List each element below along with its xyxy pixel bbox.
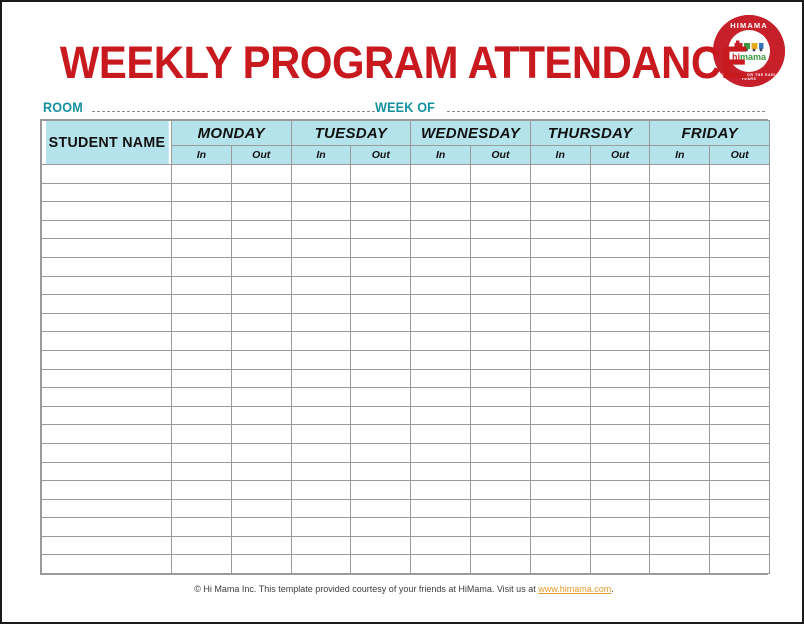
cell-time-entry[interactable]	[291, 499, 351, 518]
cell-time-entry[interactable]	[172, 425, 232, 444]
cell-time-entry[interactable]	[650, 295, 710, 314]
himama-website-link[interactable]: www.himama.com	[538, 584, 611, 594]
cell-time-entry[interactable]	[411, 332, 471, 351]
cell-time-entry[interactable]	[530, 518, 590, 537]
table-row[interactable]	[42, 443, 770, 462]
cell-time-entry[interactable]	[291, 388, 351, 407]
cell-time-entry[interactable]	[351, 499, 411, 518]
cell-time-entry[interactable]	[471, 555, 531, 574]
cell-student-name[interactable]	[42, 481, 172, 500]
cell-student-name[interactable]	[42, 462, 172, 481]
table-row[interactable]	[42, 350, 770, 369]
table-row[interactable]	[42, 499, 770, 518]
table-row[interactable]	[42, 555, 770, 574]
col-header-tuesday: TUESDAY	[291, 121, 411, 146]
cell-time-entry[interactable]	[351, 369, 411, 388]
cell-time-entry[interactable]	[710, 462, 770, 481]
cell-time-entry[interactable]	[411, 183, 471, 202]
room-label: ROOM	[43, 100, 86, 114]
col-header-tuesday-in: In	[291, 146, 351, 165]
cell-time-entry[interactable]	[291, 536, 351, 555]
footer-text-after: .	[611, 584, 614, 594]
cell-time-entry[interactable]	[530, 443, 590, 462]
col-header-wednesday-out: Out	[471, 146, 531, 165]
cell-time-entry[interactable]	[231, 332, 291, 351]
cell-time-entry[interactable]	[650, 183, 710, 202]
cell-time-entry[interactable]	[231, 462, 291, 481]
cell-time-entry[interactable]	[590, 369, 650, 388]
cell-time-entry[interactable]	[590, 313, 650, 332]
cell-time-entry[interactable]	[650, 239, 710, 258]
cell-time-entry[interactable]	[710, 555, 770, 574]
cell-time-entry[interactable]	[172, 388, 232, 407]
table-row[interactable]	[42, 220, 770, 239]
cell-time-entry[interactable]	[231, 239, 291, 258]
cell-time-entry[interactable]	[530, 350, 590, 369]
cell-time-entry[interactable]	[172, 369, 232, 388]
week-of-input-line[interactable]	[447, 111, 765, 112]
cell-time-entry[interactable]	[590, 555, 650, 574]
cell-time-entry[interactable]	[172, 276, 232, 295]
cell-time-entry[interactable]	[231, 220, 291, 239]
col-header-wednesday-in: In	[411, 146, 471, 165]
cell-time-entry[interactable]	[590, 425, 650, 444]
cell-time-entry[interactable]	[172, 295, 232, 314]
cell-time-entry[interactable]	[351, 555, 411, 574]
col-header-thursday: THURSDAY	[530, 121, 650, 146]
cell-time-entry[interactable]	[291, 555, 351, 574]
table-row[interactable]	[42, 536, 770, 555]
cell-time-entry[interactable]	[530, 536, 590, 555]
page-title: WEEKLY PROGRAM ATTENDANCE	[30, 39, 778, 87]
cell-time-entry[interactable]	[650, 350, 710, 369]
table-row[interactable]	[42, 165, 770, 184]
cell-time-entry[interactable]	[471, 183, 531, 202]
cell-time-entry[interactable]	[291, 257, 351, 276]
attendance-table: STUDENT NAME MONDAY TUESDAY WEDNESDAY TH…	[41, 120, 770, 574]
cell-time-entry[interactable]	[291, 276, 351, 295]
cell-time-entry[interactable]	[590, 257, 650, 276]
cell-time-entry[interactable]	[590, 350, 650, 369]
cell-time-entry[interactable]	[291, 425, 351, 444]
cell-time-entry[interactable]	[172, 202, 232, 221]
cell-time-entry[interactable]	[710, 388, 770, 407]
cell-time-entry[interactable]	[590, 388, 650, 407]
cell-time-entry[interactable]	[411, 220, 471, 239]
cell-time-entry[interactable]	[231, 350, 291, 369]
attendance-table-wrapper: STUDENT NAME MONDAY TUESDAY WEDNESDAY TH…	[40, 119, 768, 575]
cell-time-entry[interactable]	[471, 313, 531, 332]
cell-time-entry[interactable]	[172, 536, 232, 555]
cell-time-entry[interactable]	[590, 276, 650, 295]
cell-time-entry[interactable]	[351, 295, 411, 314]
cell-time-entry[interactable]	[590, 536, 650, 555]
cell-time-entry[interactable]	[411, 295, 471, 314]
cell-time-entry[interactable]	[231, 257, 291, 276]
room-field[interactable]: ROOM	[43, 100, 375, 114]
cell-time-entry[interactable]	[530, 369, 590, 388]
cell-time-entry[interactable]	[351, 518, 411, 537]
cell-time-entry[interactable]	[411, 499, 471, 518]
col-header-student-name: STUDENT NAME	[45, 121, 169, 165]
cell-student-name[interactable]	[42, 388, 172, 407]
cell-time-entry[interactable]	[650, 276, 710, 295]
cell-time-entry[interactable]	[530, 276, 590, 295]
cell-time-entry[interactable]	[650, 425, 710, 444]
cell-time-entry[interactable]	[172, 257, 232, 276]
cell-time-entry[interactable]	[351, 239, 411, 258]
cell-time-entry[interactable]	[471, 220, 531, 239]
table-row[interactable]	[42, 239, 770, 258]
cell-time-entry[interactable]	[530, 183, 590, 202]
cell-time-entry[interactable]	[650, 518, 710, 537]
cell-time-entry[interactable]	[291, 462, 351, 481]
cell-time-entry[interactable]	[411, 462, 471, 481]
col-header-friday: FRIDAY	[650, 121, 770, 146]
attendance-table-head: STUDENT NAME MONDAY TUESDAY WEDNESDAY TH…	[42, 121, 770, 165]
cell-time-entry[interactable]	[291, 313, 351, 332]
cell-time-entry[interactable]	[231, 295, 291, 314]
cell-time-entry[interactable]	[231, 369, 291, 388]
cell-time-entry[interactable]	[231, 443, 291, 462]
cell-time-entry[interactable]	[650, 165, 710, 184]
cell-student-name[interactable]	[42, 276, 172, 295]
cell-time-entry[interactable]	[590, 165, 650, 184]
cell-time-entry[interactable]	[530, 165, 590, 184]
cell-time-entry[interactable]	[471, 295, 531, 314]
cell-student-name[interactable]	[42, 165, 172, 184]
cell-time-entry[interactable]	[650, 443, 710, 462]
table-row[interactable]	[42, 332, 770, 351]
table-row[interactable]	[42, 369, 770, 388]
cell-time-entry[interactable]	[710, 165, 770, 184]
col-header-monday: MONDAY	[172, 121, 292, 146]
cell-student-name[interactable]	[42, 332, 172, 351]
cell-time-entry[interactable]	[530, 313, 590, 332]
cell-time-entry[interactable]	[172, 239, 232, 258]
cell-time-entry[interactable]	[471, 481, 531, 500]
cell-time-entry[interactable]	[351, 536, 411, 555]
cell-time-entry[interactable]	[351, 276, 411, 295]
cell-time-entry[interactable]	[590, 443, 650, 462]
cell-time-entry[interactable]	[231, 481, 291, 500]
cell-time-entry[interactable]	[710, 406, 770, 425]
cell-time-entry[interactable]	[650, 332, 710, 351]
cell-time-entry[interactable]	[172, 350, 232, 369]
cell-student-name[interactable]	[42, 499, 172, 518]
cell-time-entry[interactable]	[650, 257, 710, 276]
cell-time-entry[interactable]	[351, 481, 411, 500]
cell-time-entry[interactable]	[351, 165, 411, 184]
cell-time-entry[interactable]	[291, 406, 351, 425]
cell-time-entry[interactable]	[351, 183, 411, 202]
cell-time-entry[interactable]	[172, 462, 232, 481]
cell-time-entry[interactable]	[411, 443, 471, 462]
cell-time-entry[interactable]	[172, 555, 232, 574]
cell-student-name[interactable]	[42, 313, 172, 332]
cell-time-entry[interactable]	[172, 443, 232, 462]
table-row[interactable]	[42, 481, 770, 500]
cell-time-entry[interactable]	[231, 555, 291, 574]
cell-time-entry[interactable]	[530, 425, 590, 444]
cell-student-name[interactable]	[42, 202, 172, 221]
cell-time-entry[interactable]	[351, 202, 411, 221]
cell-time-entry[interactable]	[351, 350, 411, 369]
cell-time-entry[interactable]	[471, 350, 531, 369]
cell-time-entry[interactable]	[710, 276, 770, 295]
cell-student-name[interactable]	[42, 257, 172, 276]
meta-row: ROOM WEEK OF	[43, 94, 765, 114]
cell-time-entry[interactable]	[231, 388, 291, 407]
col-header-friday-out: Out	[710, 146, 770, 165]
cell-time-entry[interactable]	[231, 499, 291, 518]
cell-time-entry[interactable]	[710, 499, 770, 518]
cell-time-entry[interactable]	[291, 518, 351, 537]
col-header-tuesday-out: Out	[351, 146, 411, 165]
col-header-wednesday: WEDNESDAY	[411, 121, 531, 146]
cell-time-entry[interactable]	[650, 481, 710, 500]
cell-student-name[interactable]	[42, 555, 172, 574]
week-of-field[interactable]: WEEK OF	[375, 100, 765, 114]
cell-time-entry[interactable]	[172, 518, 232, 537]
cell-time-entry[interactable]	[530, 239, 590, 258]
cell-time-entry[interactable]	[471, 369, 531, 388]
table-row[interactable]	[42, 425, 770, 444]
cell-time-entry[interactable]	[231, 165, 291, 184]
table-header-row-days: STUDENT NAME MONDAY TUESDAY WEDNESDAY TH…	[42, 121, 770, 146]
attendance-sheet-page: HIMAMA SOFTWARE FOR THE EARLY YEARS hima	[0, 0, 804, 624]
cell-time-entry[interactable]	[530, 481, 590, 500]
cell-time-entry[interactable]	[231, 202, 291, 221]
cell-time-entry[interactable]	[351, 462, 411, 481]
cell-time-entry[interactable]	[590, 202, 650, 221]
cell-time-entry[interactable]	[172, 220, 232, 239]
cell-time-entry[interactable]	[530, 220, 590, 239]
cell-time-entry[interactable]	[650, 462, 710, 481]
cell-time-entry[interactable]	[291, 202, 351, 221]
cell-student-name[interactable]	[42, 220, 172, 239]
cell-time-entry[interactable]	[590, 220, 650, 239]
cell-time-entry[interactable]	[590, 518, 650, 537]
cell-time-entry[interactable]	[172, 499, 232, 518]
cell-time-entry[interactable]	[411, 239, 471, 258]
cell-time-entry[interactable]	[351, 257, 411, 276]
col-header-friday-in: In	[650, 146, 710, 165]
cell-student-name[interactable]	[42, 536, 172, 555]
cell-time-entry[interactable]	[231, 313, 291, 332]
cell-time-entry[interactable]	[411, 350, 471, 369]
cell-time-entry[interactable]	[172, 332, 232, 351]
footer-text-before: © Hi Mama Inc. This template provided co…	[194, 584, 538, 594]
cell-time-entry[interactable]	[710, 481, 770, 500]
cell-time-entry[interactable]	[411, 257, 471, 276]
cell-student-name[interactable]	[42, 425, 172, 444]
cell-time-entry[interactable]	[650, 202, 710, 221]
cell-time-entry[interactable]	[471, 443, 531, 462]
table-row[interactable]	[42, 183, 770, 202]
col-header-thursday-in: In	[530, 146, 590, 165]
cell-time-entry[interactable]	[590, 295, 650, 314]
cell-time-entry[interactable]	[530, 257, 590, 276]
cell-time-entry[interactable]	[471, 462, 531, 481]
cell-time-entry[interactable]	[650, 555, 710, 574]
cell-time-entry[interactable]	[172, 481, 232, 500]
cell-time-entry[interactable]	[291, 220, 351, 239]
cell-time-entry[interactable]	[172, 183, 232, 202]
cell-time-entry[interactable]	[471, 499, 531, 518]
cell-time-entry[interactable]	[590, 462, 650, 481]
attendance-table-body	[42, 165, 770, 574]
cell-time-entry[interactable]	[471, 388, 531, 407]
cell-time-entry[interactable]	[530, 388, 590, 407]
cell-time-entry[interactable]	[411, 406, 471, 425]
cell-time-entry[interactable]	[172, 165, 232, 184]
cell-student-name[interactable]	[42, 183, 172, 202]
cell-time-entry[interactable]	[530, 406, 590, 425]
cell-time-entry[interactable]	[291, 350, 351, 369]
table-row[interactable]	[42, 257, 770, 276]
table-row[interactable]	[42, 462, 770, 481]
cell-time-entry[interactable]	[471, 202, 531, 221]
cell-time-entry[interactable]	[530, 202, 590, 221]
cell-time-entry[interactable]	[710, 369, 770, 388]
cell-time-entry[interactable]	[650, 388, 710, 407]
cell-time-entry[interactable]	[291, 481, 351, 500]
cell-time-entry[interactable]	[351, 406, 411, 425]
cell-time-entry[interactable]	[231, 425, 291, 444]
cell-student-name[interactable]	[42, 350, 172, 369]
cell-time-entry[interactable]	[411, 481, 471, 500]
cell-student-name[interactable]	[42, 239, 172, 258]
cell-time-entry[interactable]	[710, 350, 770, 369]
cell-time-entry[interactable]	[710, 518, 770, 537]
cell-time-entry[interactable]	[411, 165, 471, 184]
table-row[interactable]	[42, 202, 770, 221]
cell-time-entry[interactable]	[471, 425, 531, 444]
cell-time-entry[interactable]	[650, 220, 710, 239]
cell-time-entry[interactable]	[710, 332, 770, 351]
cell-time-entry[interactable]	[590, 239, 650, 258]
cell-time-entry[interactable]	[231, 276, 291, 295]
cell-time-entry[interactable]	[710, 239, 770, 258]
cell-time-entry[interactable]	[471, 257, 531, 276]
cell-time-entry[interactable]	[351, 388, 411, 407]
cell-time-entry[interactable]	[471, 536, 531, 555]
table-row[interactable]	[42, 276, 770, 295]
col-header-thursday-out: Out	[590, 146, 650, 165]
logo-ring-top-text: HIMAMA	[713, 21, 785, 30]
cell-student-name[interactable]	[42, 443, 172, 462]
cell-time-entry[interactable]	[710, 536, 770, 555]
cell-time-entry[interactable]	[590, 499, 650, 518]
room-input-line[interactable]	[92, 111, 375, 112]
cell-time-entry[interactable]	[411, 555, 471, 574]
cell-time-entry[interactable]	[172, 406, 232, 425]
cell-time-entry[interactable]	[291, 239, 351, 258]
cell-time-entry[interactable]	[590, 481, 650, 500]
cell-time-entry[interactable]	[650, 406, 710, 425]
cell-time-entry[interactable]	[530, 295, 590, 314]
cell-time-entry[interactable]	[710, 257, 770, 276]
cell-student-name[interactable]	[42, 518, 172, 537]
cell-time-entry[interactable]	[411, 276, 471, 295]
cell-time-entry[interactable]	[650, 499, 710, 518]
cell-time-entry[interactable]	[231, 518, 291, 537]
footer-credit: © Hi Mama Inc. This template provided co…	[2, 583, 804, 595]
cell-time-entry[interactable]	[411, 369, 471, 388]
cell-time-entry[interactable]	[291, 165, 351, 184]
table-row[interactable]	[42, 388, 770, 407]
cell-time-entry[interactable]	[710, 220, 770, 239]
cell-time-entry[interactable]	[411, 518, 471, 537]
cell-time-entry[interactable]	[172, 313, 232, 332]
table-row[interactable]	[42, 313, 770, 332]
cell-time-entry[interactable]	[231, 536, 291, 555]
cell-time-entry[interactable]	[530, 332, 590, 351]
table-row[interactable]	[42, 518, 770, 537]
cell-time-entry[interactable]	[650, 536, 710, 555]
cell-time-entry[interactable]	[471, 239, 531, 258]
cell-time-entry[interactable]	[291, 369, 351, 388]
cell-student-name[interactable]	[42, 295, 172, 314]
cell-time-entry[interactable]	[530, 499, 590, 518]
cell-time-entry[interactable]	[710, 425, 770, 444]
cell-time-entry[interactable]	[351, 425, 411, 444]
cell-time-entry[interactable]	[231, 406, 291, 425]
cell-time-entry[interactable]	[291, 332, 351, 351]
cell-time-entry[interactable]	[590, 332, 650, 351]
cell-time-entry[interactable]	[710, 183, 770, 202]
table-row[interactable]	[42, 406, 770, 425]
cell-student-name[interactable]	[42, 369, 172, 388]
cell-time-entry[interactable]	[471, 165, 531, 184]
cell-time-entry[interactable]	[710, 313, 770, 332]
cell-time-entry[interactable]	[471, 276, 531, 295]
cell-time-entry[interactable]	[291, 183, 351, 202]
cell-time-entry[interactable]	[530, 462, 590, 481]
cell-time-entry[interactable]	[411, 388, 471, 407]
cell-time-entry[interactable]	[650, 313, 710, 332]
cell-time-entry[interactable]	[710, 295, 770, 314]
cell-time-entry[interactable]	[351, 443, 411, 462]
cell-time-entry[interactable]	[351, 220, 411, 239]
table-row[interactable]	[42, 295, 770, 314]
col-header-monday-out: Out	[231, 146, 291, 165]
cell-time-entry[interactable]	[411, 425, 471, 444]
col-header-monday-in: In	[172, 146, 232, 165]
cell-time-entry[interactable]	[650, 369, 710, 388]
cell-time-entry[interactable]	[291, 295, 351, 314]
cell-time-entry[interactable]	[710, 202, 770, 221]
cell-time-entry[interactable]	[590, 406, 650, 425]
cell-time-entry[interactable]	[471, 518, 531, 537]
cell-time-entry[interactable]	[471, 406, 531, 425]
cell-student-name[interactable]	[42, 406, 172, 425]
cell-time-entry[interactable]	[411, 536, 471, 555]
cell-time-entry[interactable]	[530, 555, 590, 574]
week-of-label: WEEK OF	[375, 100, 438, 114]
cell-time-entry[interactable]	[231, 183, 291, 202]
cell-time-entry[interactable]	[710, 443, 770, 462]
cell-time-entry[interactable]	[411, 313, 471, 332]
cell-time-entry[interactable]	[351, 332, 411, 351]
cell-time-entry[interactable]	[351, 313, 411, 332]
cell-time-entry[interactable]	[411, 202, 471, 221]
cell-time-entry[interactable]	[590, 183, 650, 202]
cell-time-entry[interactable]	[291, 443, 351, 462]
cell-time-entry[interactable]	[471, 332, 531, 351]
